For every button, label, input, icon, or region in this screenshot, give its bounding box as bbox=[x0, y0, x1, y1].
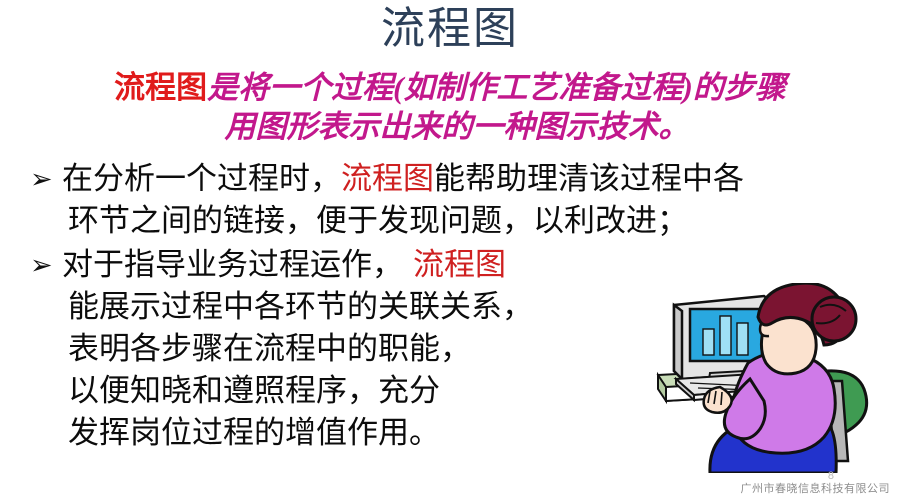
footer-company-note: 广州市春晓信息科技有限公司 bbox=[741, 482, 891, 496]
woman-at-computer-illustration bbox=[652, 283, 892, 473]
arrow-bullet-icon: ➢ bbox=[30, 245, 53, 287]
bullet-1-highlight: 流程图 bbox=[341, 161, 434, 196]
bullet-item-1: ➢ 在分析一个过程时，流程图能帮助理清该过程中各 环节之间的链接，便于发现问题，… bbox=[26, 158, 876, 242]
clipart-svg bbox=[652, 283, 892, 473]
bullet-2-highlight: 流程图 bbox=[413, 247, 506, 282]
subtitle-highlight: 流程图 bbox=[114, 70, 207, 105]
page-title: 流程图 bbox=[0, 2, 900, 56]
subtitle-line-1-rest: 是将一个过程(如制作工艺准备过程)的步骤 bbox=[207, 70, 786, 105]
subtitle-line-2: 用图形表示出来的一种图示技术。 bbox=[0, 107, 900, 146]
subtitle-block: 流程图是将一个过程(如制作工艺准备过程)的步骤 用图形表示出来的一种图示技术。 bbox=[0, 68, 900, 146]
bullet-1-line-2: 环节之间的链接，便于发现问题，以利改进； bbox=[62, 200, 876, 242]
bullet-1-line-1-post: 能帮助理清该过程中各 bbox=[434, 161, 744, 196]
page-number: 8 bbox=[828, 470, 834, 482]
arrow-bullet-icon: ➢ bbox=[30, 159, 53, 201]
hair-bun-shape bbox=[812, 297, 856, 341]
bullet-2-line-1: 对于指导业务过程运作，流程图 bbox=[62, 244, 876, 286]
subtitle-line-1: 流程图是将一个过程(如制作工艺准备过程)的步骤 bbox=[114, 70, 786, 105]
bullet-2-line-1-pre: 对于指导业务过程运作， bbox=[62, 247, 403, 282]
bullet-1-line-1-pre: 在分析一个过程时， bbox=[62, 161, 341, 196]
bullet-1-line-1: 在分析一个过程时，流程图能帮助理清该过程中各 bbox=[62, 158, 876, 200]
slide-canvas: 流程图 流程图是将一个过程(如制作工艺准备过程)的步骤 用图形表示出来的一种图示… bbox=[0, 0, 900, 500]
